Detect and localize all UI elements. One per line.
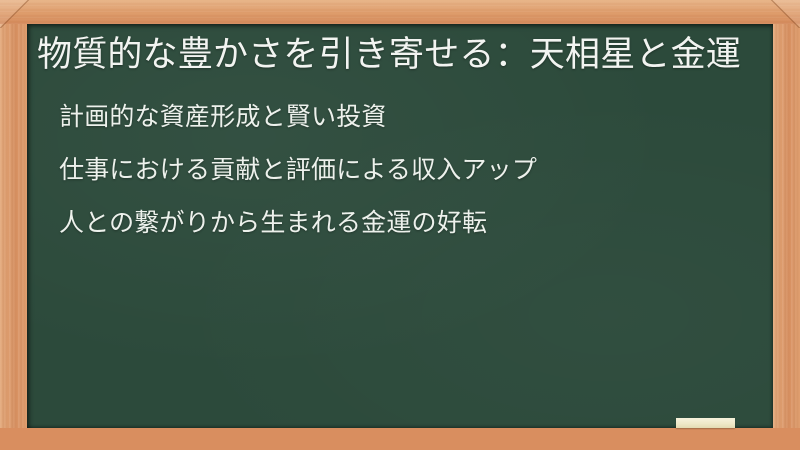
frame-bottom-ledge: [0, 428, 800, 450]
bullet-item-3: 人との繋がりから生まれる金運の好転: [59, 210, 755, 235]
frame-corner-top-right-miter: [770, 0, 800, 28]
slide-title: 物質的な豊かさを引き寄せる：天相星と金運: [37, 32, 755, 78]
frame-right-rail: [773, 0, 800, 450]
bullet-item-1: 計画的な資産形成と賢い投資: [59, 104, 755, 129]
slide-bullet-list: 計画的な資産形成と賢い投資 仕事における貢献と評価による収入アップ 人との繋がり…: [37, 104, 755, 235]
chalkboard-content: 物質的な豊かさを引き寄せる：天相星と金運 計画的な資産形成と賢い投資 仕事におけ…: [27, 24, 773, 428]
chalk-stick-icon: [676, 418, 735, 428]
chalkboard-frame: 物質的な豊かさを引き寄せる：天相星と金運 計画的な資産形成と賢い投資 仕事におけ…: [0, 0, 800, 450]
frame-corner-top-left-miter: [0, 0, 30, 28]
bullet-item-2: 仕事における貢献と評価による収入アップ: [59, 157, 755, 182]
frame-top-rail: [0, 0, 800, 24]
chalkboard-surface: 物質的な豊かさを引き寄せる：天相星と金運 計画的な資産形成と賢い投資 仕事におけ…: [27, 24, 773, 428]
frame-left-rail: [0, 0, 27, 450]
